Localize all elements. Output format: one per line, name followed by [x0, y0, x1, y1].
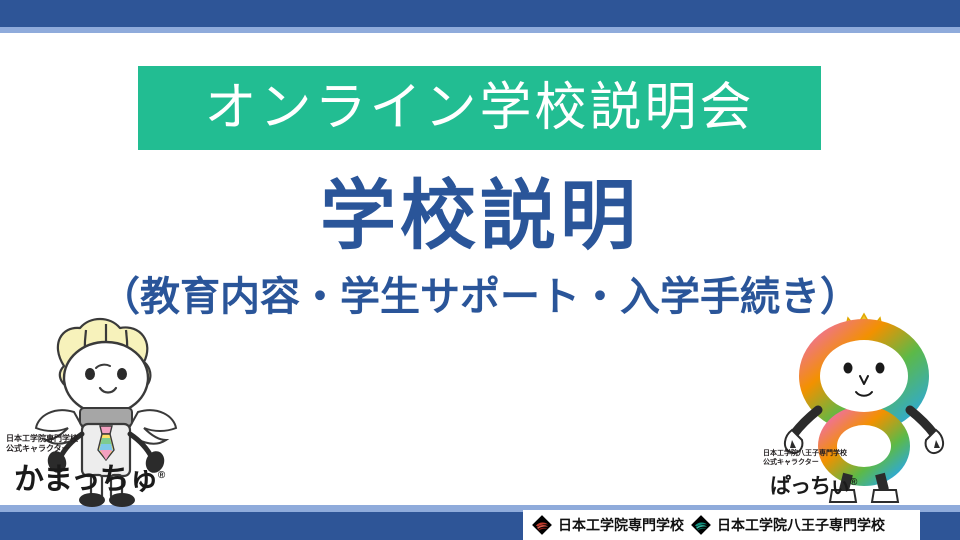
top-dark-band	[0, 0, 960, 27]
mascot-patchy-caption: 日本工学院八王子専門学校 公式キャラクター	[763, 450, 847, 468]
top-light-band	[0, 27, 960, 33]
logo-nihon-kogakuin-hachioji: 日本工学院八王子専門学校	[690, 514, 885, 536]
mascot-patchy-name-text: ぱっちぃ	[770, 475, 850, 498]
footer-logo-plate: 日本工学院専門学校 日本工学院八王子専門学校	[523, 510, 920, 540]
event-banner-label: オンライン学校説明会	[204, 82, 754, 134]
mascot-patchy-caption-line2: 公式キャラクター	[763, 459, 847, 468]
diamond-logo-red-icon	[531, 514, 553, 536]
mascot-patchy-name: ぱっちぃ®	[770, 470, 856, 500]
mascot-kamatchu-registered-icon: ®	[158, 470, 164, 481]
mascot-kamatchu-caption-line2: 公式キャラクター	[6, 444, 78, 454]
mascot-kamatchu-name: かまっちゅ®	[14, 454, 164, 498]
logo-nihon-kogakuin: 日本工学院専門学校	[531, 514, 684, 536]
event-banner: オンライン学校説明会	[138, 66, 821, 150]
right-white-edge	[954, 33, 960, 505]
logo-nihon-kogakuin-hachioji-label: 日本工学院八王子専門学校	[717, 515, 885, 535]
page-title: 学校説明	[0, 178, 960, 256]
mascot-patchy-caption-line1: 日本工学院八王子専門学校	[763, 450, 847, 459]
mascot-kamatchu-caption-line1: 日本工学院専門学校	[6, 434, 78, 444]
diamond-logo-teal-icon	[690, 514, 712, 536]
presentation-slide: オンライン学校説明会 学校説明 （教育内容・学生サポート・入学手続き）	[0, 0, 960, 540]
logo-nihon-kogakuin-label: 日本工学院専門学校	[558, 515, 684, 535]
mascot-kamatchu-caption: 日本工学院専門学校 公式キャラクター	[6, 434, 78, 454]
mascot-kamatchu-name-text: かまっちゅ	[14, 463, 158, 496]
mascot-patchy-registered-icon: ®	[850, 477, 856, 488]
